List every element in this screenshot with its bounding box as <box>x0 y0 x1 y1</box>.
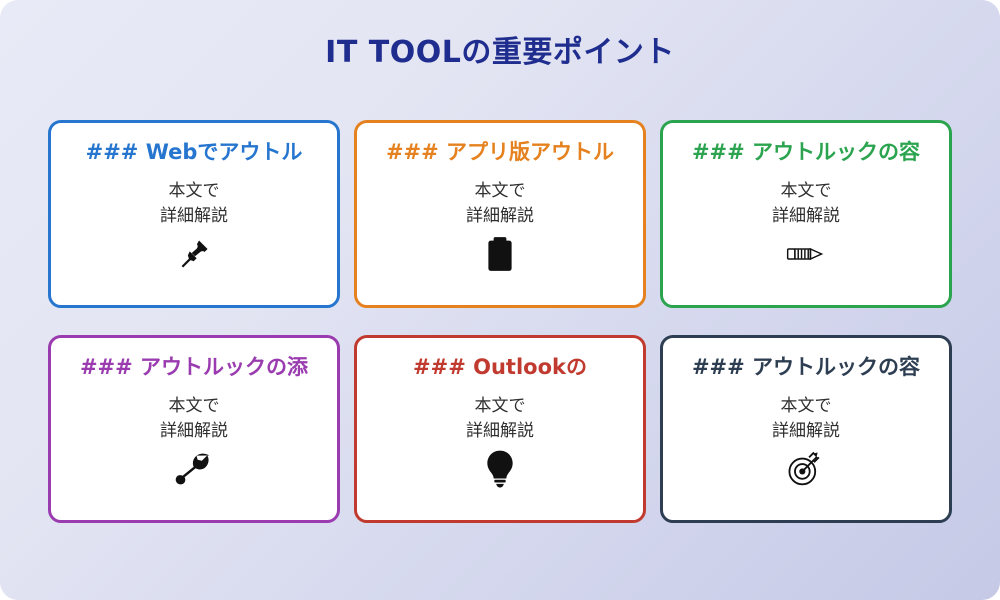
card-body-line-2: 詳細解説 <box>160 419 228 444</box>
pushpin-icon <box>177 234 211 274</box>
card-grid: ### Webでアウトル 本文で 詳細解説 ### アプリ版アウトル 本文で 詳… <box>48 120 952 523</box>
card-body-line-2: 詳細解説 <box>772 419 840 444</box>
card-title: ### アプリ版アウトル <box>386 140 614 165</box>
lightbulb-icon <box>486 449 514 489</box>
dartboard-icon <box>787 449 825 489</box>
card-body-line-1: 本文で <box>772 179 840 204</box>
card-title: ### アウトルックの添 <box>80 355 308 380</box>
card-outlook-tip[interactable]: ### Outlookの 本文で 詳細解説 <box>354 335 646 523</box>
card-outlook-attachment[interactable]: ### アウトルックの添 本文で 詳細解説 <box>48 335 340 523</box>
card-body-line-2: 詳細解説 <box>772 204 840 229</box>
card-web-outlook[interactable]: ### Webでアウトル 本文で 詳細解説 <box>48 120 340 308</box>
card-outlook-capacity-2[interactable]: ### アウトルックの容 本文で 詳細解説 <box>660 335 952 523</box>
card-body-line-1: 本文で <box>466 394 534 419</box>
card-outlook-capacity[interactable]: ### アウトルックの容 本文で 詳細解説 <box>660 120 952 308</box>
slide-canvas: IT TOOLの重要ポイント ### Webでアウトル 本文で 詳細解説 ###… <box>0 0 1000 600</box>
page-title: IT TOOLの重要ポイント <box>0 0 1000 71</box>
card-body: 本文で 詳細解説 <box>772 394 840 443</box>
card-body-line-2: 詳細解説 <box>466 204 534 229</box>
card-body: 本文で 詳細解説 <box>772 179 840 228</box>
card-body-line-1: 本文で <box>160 179 228 204</box>
card-body: 本文で 詳細解説 <box>466 394 534 443</box>
clipboard-icon <box>485 234 515 274</box>
card-app-outlook[interactable]: ### アプリ版アウトル 本文で 詳細解説 <box>354 120 646 308</box>
card-body-line-2: 詳細解説 <box>160 204 228 229</box>
card-title: ### Outlookの <box>413 355 587 380</box>
card-body-line-2: 詳細解説 <box>466 419 534 444</box>
card-title: ### アウトルックの容 <box>692 355 920 380</box>
card-body-line-1: 本文で <box>772 394 840 419</box>
pencil-icon <box>786 234 826 274</box>
card-body: 本文で 詳細解説 <box>160 394 228 443</box>
card-title: ### Webでアウトル <box>86 140 303 165</box>
card-title: ### アウトルックの容 <box>692 140 920 165</box>
card-body: 本文で 詳細解説 <box>466 179 534 228</box>
card-body: 本文で 詳細解説 <box>160 179 228 228</box>
wrench-icon <box>175 449 213 489</box>
card-body-line-1: 本文で <box>160 394 228 419</box>
card-body-line-1: 本文で <box>466 179 534 204</box>
